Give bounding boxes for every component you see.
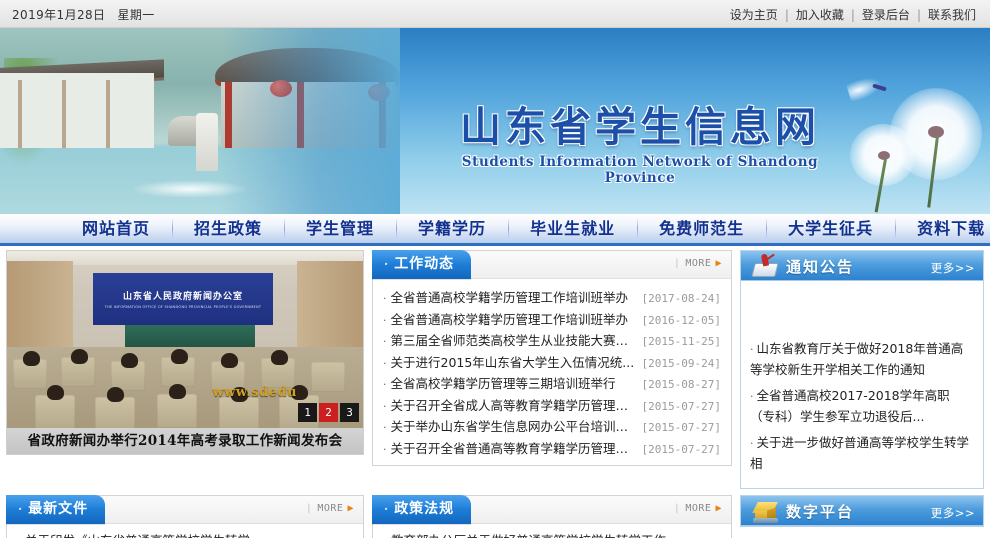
press-table bbox=[125, 325, 255, 347]
latest-files-more-link[interactable]: |MORE▶ bbox=[306, 503, 354, 514]
top-links: 设为主页|加入收藏|登录后台|联系我们 bbox=[730, 6, 976, 23]
more-bar-icon: | bbox=[674, 503, 681, 514]
list-item[interactable]: · 关于进行2015年山东省大学生入伍情况统... [2015-09-24] bbox=[383, 352, 721, 374]
bullet-icon: · bbox=[383, 443, 387, 456]
news-title: 关于召开全省普通高等教育学籍学历管理工作... bbox=[391, 438, 642, 457]
pavilion-column bbox=[379, 82, 386, 148]
work-news-header: ·工作动态 |MORE▶ bbox=[373, 251, 731, 279]
notice-header: 通知公告 更多>> bbox=[741, 251, 983, 281]
more-bar-icon: | bbox=[674, 258, 681, 269]
hall-column bbox=[106, 80, 110, 148]
slideshow-pagination: 1 2 3 bbox=[298, 403, 359, 422]
nav-item-admission[interactable]: 招生政策 bbox=[172, 214, 284, 243]
site-title-en: Students Information Network of Shandong… bbox=[430, 154, 850, 186]
digital-platform-more-link[interactable]: 更多>> bbox=[931, 505, 975, 521]
bullet-icon: · bbox=[383, 335, 387, 348]
page-root: 2019年1月28日星期一 设为主页|加入收藏|登录后台|联系我们 bbox=[0, 0, 990, 538]
more-label: MORE bbox=[685, 503, 711, 514]
slide-page-2[interactable]: 2 bbox=[319, 403, 338, 422]
willow-tree bbox=[4, 58, 66, 178]
news-title: 全省高校学籍学历管理等三期培训班举行 bbox=[391, 373, 642, 392]
bullet-icon: · bbox=[383, 292, 387, 305]
photo-watermark: www.sdedu bbox=[212, 385, 297, 400]
link-separator-2: | bbox=[844, 8, 862, 22]
spring-foam bbox=[130, 180, 250, 198]
horn-icon bbox=[753, 255, 779, 278]
latest-files-first-item[interactable]: · 关于印发《山东省普通高等学校学生转学 bbox=[7, 524, 363, 538]
backdrop-text-en: THE INFORMATION OFFICE OF SHANDONG PROVI… bbox=[105, 305, 262, 309]
more-label: MORE bbox=[317, 503, 343, 514]
news-title: 第三届全省师范类高校学生从业技能大赛圆满... bbox=[391, 330, 642, 349]
red-lantern bbox=[270, 80, 292, 97]
right-column: 通知公告 更多>> ·山东省教育厅关于做好2018年普通高等学校新生开学相关工作… bbox=[740, 250, 984, 489]
bullet-icon: · bbox=[383, 314, 387, 327]
news-title: 全省普通高校学籍学历管理工作培训班举办 bbox=[391, 287, 642, 306]
work-news-more-link[interactable]: |MORE▶ bbox=[674, 258, 722, 269]
latest-files-tab[interactable]: ·最新文件 bbox=[6, 495, 105, 524]
notice-text: 全省普通高校2017-2018学年高职（专科）学生参军立功退役后... bbox=[750, 388, 950, 424]
banner-title-block: 山东省学生信息网 Students Information Network of… bbox=[430, 106, 850, 186]
news-date: [2017-08-24] bbox=[642, 292, 721, 305]
hall-column bbox=[18, 80, 22, 148]
notice-panel: 通知公告 更多>> ·山东省教育厅关于做好2018年普通高等学校新生开学相关工作… bbox=[740, 250, 984, 489]
slide-page-3[interactable]: 3 bbox=[340, 403, 359, 422]
date-text: 2019年1月28日 bbox=[12, 8, 105, 22]
news-title: 关于召开全省成人高等教育学籍学历管理工作... bbox=[391, 395, 642, 414]
list-item[interactable]: · 全省普通高校学籍学历管理工作培训班举办 [2016-12-05] bbox=[383, 309, 721, 331]
admin-login-link[interactable]: 登录后台 bbox=[862, 8, 910, 22]
nav-item-home[interactable]: 网站首页 bbox=[60, 214, 172, 243]
policies-first-item[interactable]: · 教育部办公厅关于做好普通高等学校学生转学工作 bbox=[373, 524, 731, 538]
pavilion-column bbox=[297, 82, 304, 148]
nav-item-status-degree[interactable]: 学籍学历 bbox=[396, 214, 508, 243]
digital-platform-column: 数字平台 更多>> bbox=[740, 495, 984, 527]
digital-platform-title: 数字平台 bbox=[786, 501, 854, 522]
work-news-tab[interactable]: ·工作动态 bbox=[372, 250, 471, 279]
featured-slideshow[interactable]: 山东省人民政府新闻办公室 THE INFORMATION OFFICE OF S… bbox=[6, 250, 364, 455]
list-item[interactable]: · 第三届全省师范类高校学生从业技能大赛圆满... [2015-11-25] bbox=[383, 330, 721, 352]
work-news-title: 工作动态 bbox=[394, 256, 454, 272]
contact-us-link[interactable]: 联系我们 bbox=[928, 8, 976, 22]
bullet-icon: · bbox=[383, 357, 387, 370]
site-banner: 山东省学生信息网 Students Information Network of… bbox=[0, 28, 990, 214]
news-title: 全省普通高校学籍学历管理工作培训班举办 bbox=[391, 309, 642, 328]
hall-building bbox=[0, 73, 154, 148]
policies-more-link[interactable]: |MORE▶ bbox=[674, 503, 722, 514]
nav-item-downloads[interactable]: 资料下载 bbox=[895, 214, 990, 243]
latest-files-title: 最新文件 bbox=[28, 501, 88, 517]
hall-roof bbox=[0, 59, 164, 86]
more-arrow-icon: ▶ bbox=[715, 258, 722, 269]
link-separator-3: | bbox=[910, 8, 928, 22]
slide-page-1[interactable]: 1 bbox=[298, 403, 317, 422]
nav-list: 网站首页 招生政策 学生管理 学籍学历 毕业生就业 免费师范生 大学生征兵 资料… bbox=[0, 214, 990, 243]
news-date: [2015-11-25] bbox=[642, 335, 721, 348]
policies-tab[interactable]: ·政策法规 bbox=[372, 495, 471, 524]
site-title-cn: 山东省学生信息网 bbox=[430, 106, 850, 149]
left-column: 山东省人民政府新闻办公室 THE INFORMATION OFFICE OF S… bbox=[6, 250, 364, 455]
weekday-text: 星期一 bbox=[117, 8, 154, 22]
pavilion-roof bbox=[215, 48, 400, 82]
digital-platform-panel: 数字平台 更多>> bbox=[740, 495, 984, 527]
spring-stele bbox=[196, 113, 218, 171]
list-item[interactable]: ·全省普通高校2017-2018学年高职（专科）学生参军立功退役后... bbox=[750, 386, 974, 427]
policies-panel: ·政策法规 |MORE▶ · 教育部办公厅关于做好普通高等学校学生转学工作 bbox=[372, 495, 732, 538]
more-label: MORE bbox=[685, 258, 711, 269]
policies-header: ·政策法规 |MORE▶ bbox=[373, 496, 731, 524]
latest-files-column: ·最新文件 |MORE▶ · 关于印发《山东省普通高等学校学生转学 bbox=[6, 495, 364, 538]
link-separator-1: | bbox=[778, 8, 796, 22]
news-date: [2015-07-27] bbox=[642, 421, 721, 434]
list-item[interactable]: ·关于进一步做好普通高等学校学生转学相 bbox=[750, 433, 974, 474]
dandelion-seed bbox=[846, 73, 885, 103]
cube-icon bbox=[753, 500, 779, 523]
tab-dot-icon: · bbox=[18, 502, 23, 516]
pavilion-body bbox=[221, 82, 396, 148]
notice-text: 山东省教育厅关于做好2018年普通高等学校新生开学相关工作的通知 bbox=[750, 341, 963, 377]
tab-dot-icon: · bbox=[384, 502, 389, 516]
notice-title: 通知公告 bbox=[786, 256, 854, 277]
current-date: 2019年1月28日星期一 bbox=[12, 6, 155, 23]
policies-column: ·政策法规 |MORE▶ · 教育部办公厅关于做好普通高等学校学生转学工作 bbox=[372, 495, 732, 538]
rockery bbox=[222, 116, 280, 146]
main-navigation: 网站首页 招生政策 学生管理 学籍学历 毕业生就业 免费师范生 大学生征兵 资料… bbox=[0, 214, 990, 246]
rockery bbox=[168, 116, 208, 146]
more-arrow-icon: ▶ bbox=[347, 503, 354, 514]
list-item[interactable]: · 全省高校学籍学历管理等三期培训班举行 [2015-08-27] bbox=[383, 373, 721, 395]
nav-item-student-mgmt[interactable]: 学生管理 bbox=[284, 214, 396, 243]
policies-title: 政策法规 bbox=[394, 501, 454, 517]
notice-list: ·山东省教育厅关于做好2018年普通高等学校新生开学相关工作的通知 ·全省普通高… bbox=[741, 329, 983, 488]
press-backdrop: 山东省人民政府新闻办公室 THE INFORMATION OFFICE OF S… bbox=[93, 273, 273, 325]
add-favorite-link[interactable]: 加入收藏 bbox=[796, 8, 844, 22]
news-date: [2015-08-27] bbox=[642, 378, 721, 391]
notice-more-link[interactable]: 更多>> bbox=[931, 260, 975, 276]
slide-caption[interactable]: 省政府新闻办举行2014年高考录取工作新闻发布会 bbox=[7, 428, 363, 454]
notice-text: 关于进一步做好普通高等学校学生转学相 bbox=[750, 435, 969, 471]
more-arrow-icon: ▶ bbox=[715, 503, 722, 514]
bullet-icon: · bbox=[383, 378, 387, 391]
digital-platform-header: 数字平台 更多>> bbox=[741, 496, 983, 526]
list-item[interactable]: · 关于召开全省成人高等教育学籍学历管理工作... [2015-07-27] bbox=[383, 395, 721, 417]
latest-files-panel: ·最新文件 |MORE▶ · 关于印发《山东省普通高等学校学生转学 bbox=[6, 495, 364, 538]
nav-item-conscription[interactable]: 大学生征兵 bbox=[766, 214, 895, 243]
list-item[interactable]: · 全省普通高校学籍学历管理工作培训班举办 [2017-08-24] bbox=[383, 287, 721, 309]
bullet-icon: · bbox=[750, 437, 754, 450]
list-item[interactable]: ·山东省教育厅关于做好2018年普通高等学校新生开学相关工作的通知 bbox=[750, 339, 974, 380]
work-news-panel: ·工作动态 |MORE▶ · 全省普通高校学籍学历管理工作培训班举办 [2017… bbox=[372, 250, 732, 466]
news-title: 关于进行2015年山东省大学生入伍情况统... bbox=[391, 352, 642, 371]
conference-wall-left bbox=[7, 261, 73, 357]
middle-column: ·工作动态 |MORE▶ · 全省普通高校学籍学历管理工作培训班举办 [2017… bbox=[372, 250, 732, 466]
news-title: 关于举办山东省学生信息网办公平台培训班的... bbox=[391, 416, 642, 435]
latest-files-header: ·最新文件 |MORE▶ bbox=[7, 496, 363, 524]
nav-item-employment[interactable]: 毕业生就业 bbox=[508, 214, 637, 243]
news-date: [2015-07-27] bbox=[642, 400, 721, 413]
bullet-icon: · bbox=[383, 421, 387, 434]
banner-scenery-photo bbox=[0, 28, 400, 214]
notice-spacer bbox=[741, 281, 983, 329]
conference-wall-right bbox=[297, 261, 363, 357]
more-bar-icon: | bbox=[306, 503, 313, 514]
bullet-icon: · bbox=[750, 390, 754, 403]
bullet-icon: · bbox=[750, 343, 754, 356]
news-date: [2015-09-24] bbox=[642, 357, 721, 370]
list-item[interactable]: · 关于举办山东省学生信息网办公平台培训班的... [2015-07-27] bbox=[383, 416, 721, 438]
list-item[interactable]: · 关于召开全省普通高等教育学籍学历管理工作... [2015-07-27] bbox=[383, 438, 721, 460]
hall-column bbox=[62, 80, 66, 148]
work-news-list: · 全省普通高校学籍学历管理工作培训班举办 [2017-08-24] · 全省普… bbox=[373, 279, 731, 465]
pavilion-column bbox=[225, 82, 232, 148]
red-lantern bbox=[368, 84, 390, 101]
set-homepage-link[interactable]: 设为主页 bbox=[730, 8, 778, 22]
bullet-icon: · bbox=[383, 400, 387, 413]
tab-dot-icon: · bbox=[384, 257, 389, 271]
nav-item-free-normal[interactable]: 免费师范生 bbox=[637, 214, 766, 243]
news-date: [2015-07-27] bbox=[642, 443, 721, 456]
backdrop-text-cn: 山东省人民政府新闻办公室 bbox=[123, 289, 243, 302]
news-date: [2016-12-05] bbox=[642, 314, 721, 327]
bottom-section-row: ·最新文件 |MORE▶ · 关于印发《山东省普通高等学校学生转学 ·政策法规 … bbox=[0, 495, 990, 538]
top-bar: 2019年1月28日星期一 设为主页|加入收藏|登录后台|联系我们 bbox=[0, 0, 990, 28]
